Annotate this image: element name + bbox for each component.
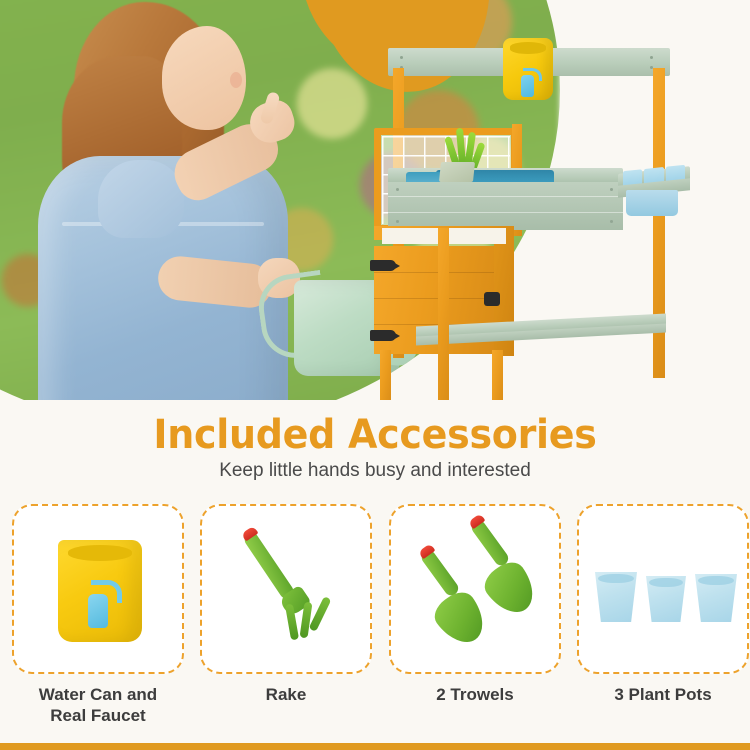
accessory-card-rake[interactable] [200, 504, 372, 674]
leg-mid [438, 228, 449, 400]
accessory-card-plant-pots[interactable] [577, 504, 749, 674]
section-subtitle: Keep little hands busy and interested [0, 460, 750, 482]
leg-left-mid [492, 350, 503, 400]
three-plant-pots-icon [579, 506, 747, 672]
girl-figure [32, 0, 392, 400]
two-garden-trowels-icon [391, 506, 559, 672]
section-title: Included Accessories [19, 412, 732, 458]
counter-front [388, 182, 623, 230]
accessory-cards [0, 504, 750, 684]
sleeve [98, 160, 184, 238]
accessory-card-trowels[interactable] [389, 504, 561, 674]
water-can-with-faucet-icon [14, 506, 182, 672]
soil-block [439, 162, 475, 182]
label-water-can: Water Can and Real Faucet [12, 684, 184, 726]
hero-section [0, 0, 750, 400]
label-plant-pots: 3 Plant Pots [577, 684, 749, 705]
accessory-labels: Water Can and Real Faucet Rake 2 Trowels… [0, 684, 750, 740]
face [162, 26, 246, 130]
blue-faucet-icon [521, 75, 534, 97]
leg-left-front [380, 350, 391, 400]
garden-rake-icon [202, 506, 370, 672]
cabinet-latch [484, 292, 500, 306]
accessory-card-water-can[interactable] [12, 504, 184, 674]
blue-drawer [626, 190, 678, 216]
product-marketing-banner: Included Accessories Keep little hands b… [0, 0, 750, 750]
label-trowels: 2 Trowels [389, 684, 561, 705]
bottom-accent-bar [0, 743, 750, 750]
product-image-mud-kitchen [380, 20, 750, 400]
label-rake: Rake [200, 684, 372, 705]
